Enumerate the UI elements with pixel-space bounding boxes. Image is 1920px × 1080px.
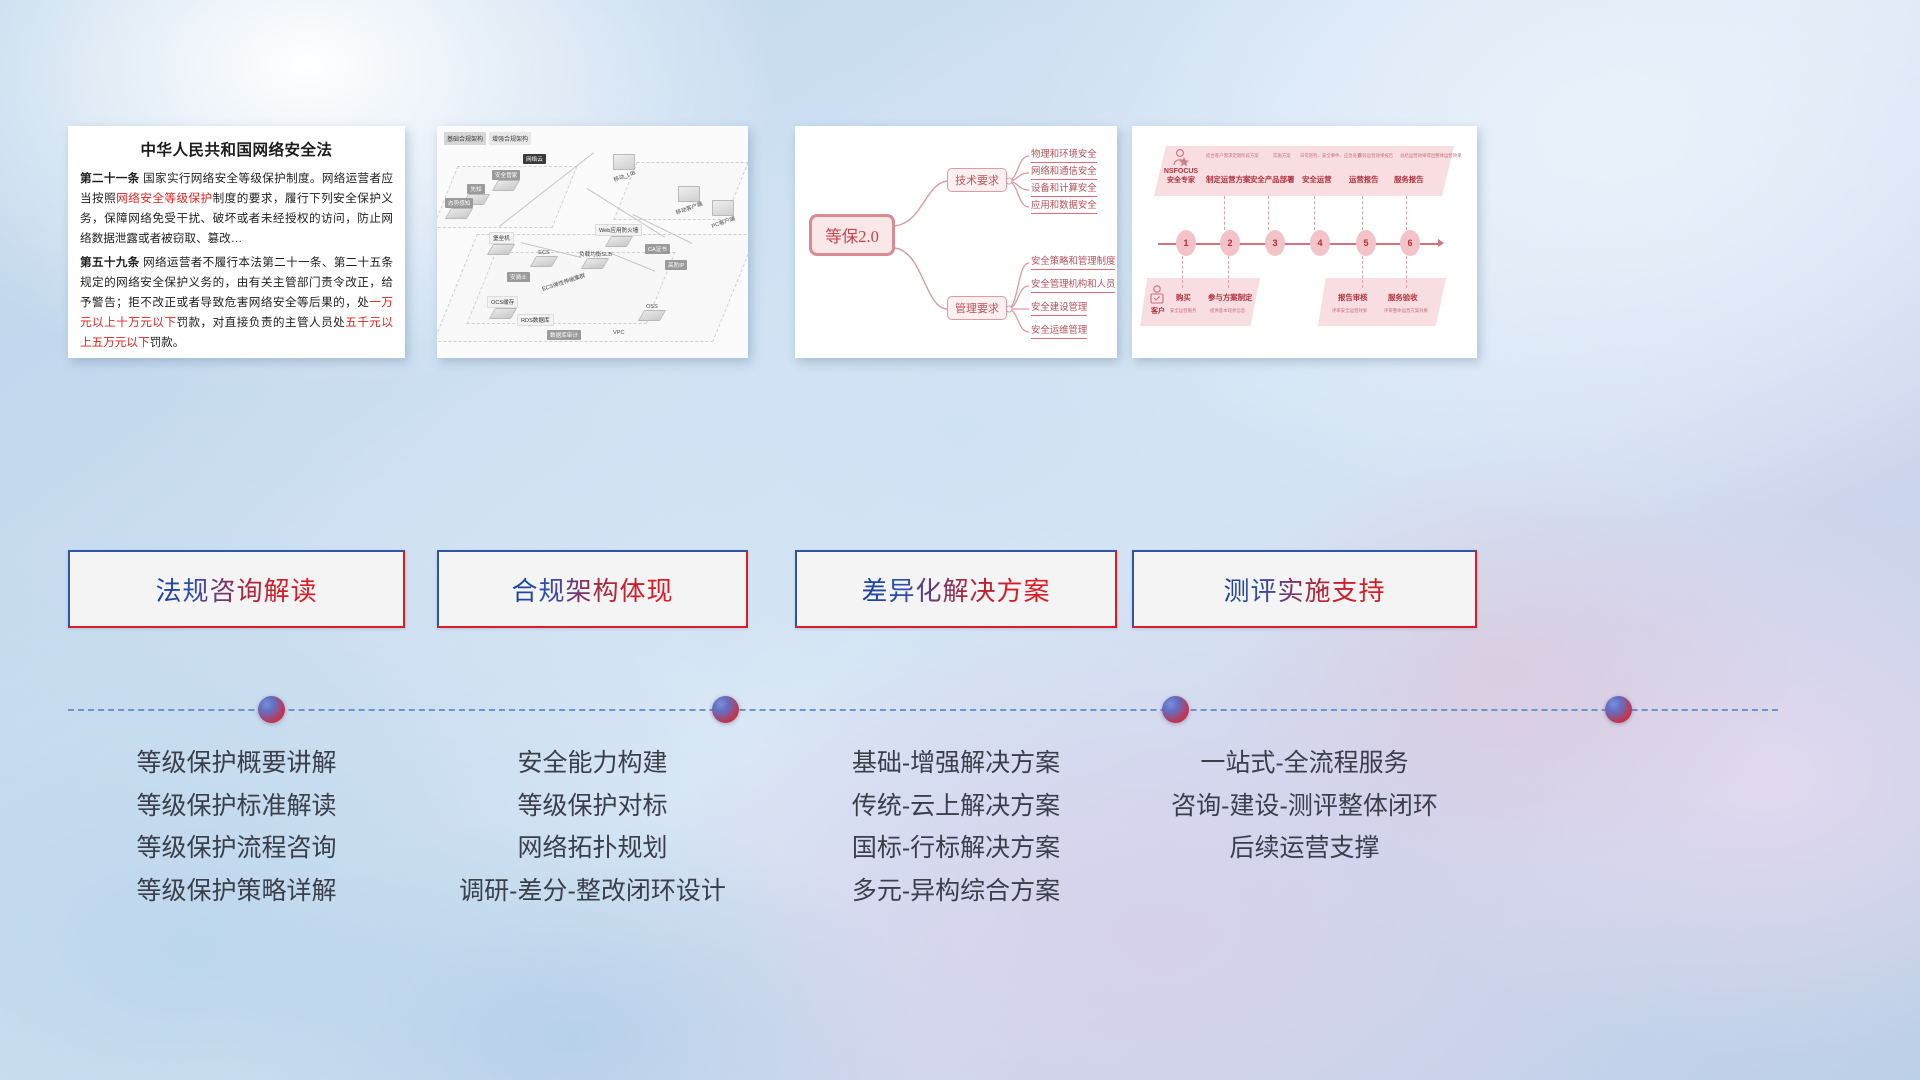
strip-dot-2[interactable] [712,696,739,723]
strip-dot-1[interactable] [258,696,285,723]
list-item: 等级保护流程咨询 [68,827,405,870]
list-item: 咨询-建设-测评整体闭环 [1132,785,1477,828]
label-box-differentiated-solution-text: 差异化解决方案 [861,571,1050,608]
list-item: 一站式-全流程服务 [1132,742,1477,785]
label-box-evaluation-support[interactable]: 测评实施支持 [1132,550,1477,628]
label-box-legal-consulting-text: 法规咨询解读 [155,571,317,608]
label-box-compliance-architecture-text: 合规架构体现 [511,571,673,608]
label-boxes-row: 法规咨询解读 合规架构体现 差异化解决方案 测评实施支持 [0,0,1920,1080]
timeline-strip [0,690,1920,730]
label-box-legal-consulting[interactable]: 法规咨询解读 [68,550,405,628]
list-item: 后续运营支撑 [1132,827,1477,870]
list-column-legal-consulting: 等级保护概要讲解 等级保护标准解读 等级保护流程咨询 等级保护策略详解 [68,742,405,912]
strip-dot-4[interactable] [1605,696,1632,723]
list-item: 基础-增强解决方案 [795,742,1117,785]
label-box-compliance-architecture[interactable]: 合规架构体现 [437,550,748,628]
list-item: 安全能力构建 [437,742,748,785]
list-item: 等级保护策略详解 [68,870,405,913]
list-item: 多元-异构综合方案 [795,870,1117,913]
label-box-differentiated-solution[interactable]: 差异化解决方案 [795,550,1117,628]
list-column-evaluation-support: 一站式-全流程服务 咨询-建设-测评整体闭环 后续运营支撑 [1132,742,1477,870]
strip-dashed-line [68,709,1778,711]
list-item: 等级保护概要讲解 [68,742,405,785]
list-item: 等级保护对标 [437,785,748,828]
list-column-differentiated-solution: 基础-增强解决方案 传统-云上解决方案 国标-行标解决方案 多元-异构综合方案 [795,742,1117,912]
list-item: 传统-云上解决方案 [795,785,1117,828]
strip-dot-3[interactable] [1162,696,1189,723]
list-column-compliance-architecture: 安全能力构建 等级保护对标 网络拓扑规划 调研-差分-整改闭环设计 [437,742,748,912]
list-item: 国标-行标解决方案 [795,827,1117,870]
list-item: 调研-差分-整改闭环设计 [437,870,748,913]
label-box-evaluation-support-text: 测评实施支持 [1223,571,1385,608]
list-item: 网络拓扑规划 [437,827,748,870]
list-item: 等级保护标准解读 [68,785,405,828]
